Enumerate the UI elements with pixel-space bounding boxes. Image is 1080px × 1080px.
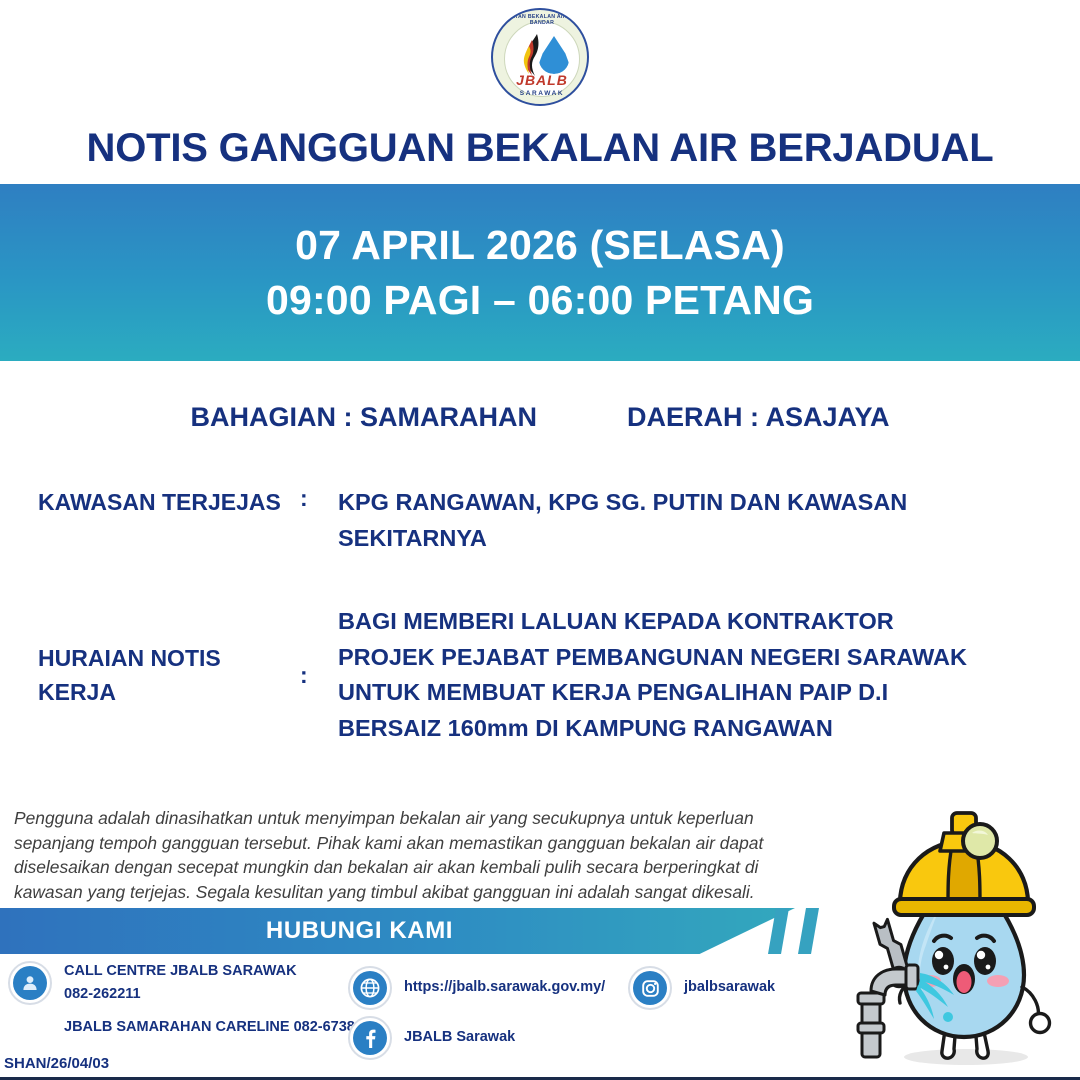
jbalb-logo: JABATAN BEKALAN AIR LUAR BANDAR JBALB SA…: [491, 8, 589, 106]
logo-state-text: SARAWAK: [493, 90, 589, 97]
schedule-date: 07 APRIL 2026 (SELASA): [295, 222, 785, 269]
water-droplet-mascot: [848, 795, 1080, 1077]
call-centre-contact: CALL CENTRE JBALB SARAWAK 082-262211: [8, 960, 297, 1006]
call-centre-name: CALL CENTRE JBALB SARAWAK: [64, 960, 297, 983]
facebook-contact[interactable]: JBALB Sarawak: [348, 1016, 515, 1060]
contact-bar: HUBUNGI KAMI: [0, 908, 795, 954]
reference-code: SHAN/26/04/03: [4, 1055, 109, 1072]
work-description-colon: :: [300, 662, 338, 689]
logo-flame-icon: [523, 34, 545, 76]
region-row: BAHAGIAN : SAMARAHAN DAERAH : ASAJAYA: [0, 402, 1080, 433]
facebook-icon: [348, 1016, 392, 1060]
work-description-value: BAGI MEMBERI LALUAN KEPADA KONTRAKTOR PR…: [338, 604, 978, 747]
website-contact[interactable]: https://jbalb.sarawak.gov.my/: [348, 966, 605, 1010]
affected-area-label: KAWASAN TERJEJAS: [0, 485, 300, 520]
careline-text: JBALB SAMARAHAN CARELINE 082-673809: [64, 1016, 371, 1039]
notice-poster: JABATAN BEKALAN AIR LUAR BANDAR JBALB SA…: [0, 0, 1080, 1080]
facebook-handle[interactable]: JBALB Sarawak: [404, 1026, 515, 1049]
instagram-icon: [628, 966, 672, 1010]
person-icon: [8, 961, 52, 1005]
affected-area-colon: :: [300, 485, 338, 512]
contact-bar-container: HUBUNGI KAMI: [0, 908, 860, 954]
careline-name: JBALB SAMARAHAN CARELINE: [64, 1019, 290, 1035]
affected-area-row: KAWASAN TERJEJAS : KPG RANGAWAN, KPG SG.…: [0, 485, 1080, 556]
instagram-handle[interactable]: jbalbsarawak: [684, 976, 775, 999]
division-label: BAHAGIAN : SAMARAHAN: [190, 402, 536, 433]
logo-container: JABATAN BEKALAN AIR LUAR BANDAR JBALB SA…: [0, 8, 1080, 106]
logo-ring-text: JABATAN BEKALAN AIR LUAR BANDAR: [493, 14, 589, 26]
globe-icon: [348, 966, 392, 1010]
instagram-contact[interactable]: jbalbsarawak: [628, 966, 775, 1010]
district-label: DAERAH : ASAJAYA: [627, 402, 890, 433]
website-url[interactable]: https://jbalb.sarawak.gov.my/: [404, 976, 605, 999]
advisory-paragraph: Pengguna adalah dinasihatkan untuk menyi…: [14, 806, 804, 905]
contacts-section: CALL CENTRE JBALB SARAWAK 082-262211 JBA…: [0, 958, 860, 1076]
work-description-row: HURAIAN NOTIS KERJA : BAGI MEMBERI LALUA…: [0, 604, 1080, 747]
contact-bar-title: HUBUNGI KAMI: [266, 917, 453, 945]
affected-area-value: KPG RANGAWAN, KPG SG. PUTIN DAN KAWASAN …: [338, 485, 958, 556]
call-centre-text: CALL CENTRE JBALB SARAWAK 082-262211: [64, 960, 297, 1006]
work-description-label: HURAIAN NOTIS KERJA: [0, 641, 300, 710]
call-centre-phone[interactable]: 082-262211: [64, 983, 297, 1006]
schedule-banner: 07 APRIL 2026 (SELASA) 09:00 PAGI – 06:0…: [0, 184, 1080, 361]
logo-acronym: JBALB: [493, 72, 589, 88]
page-title: NOTIS GANGGUAN BEKALAN AIR BERJADUAL: [0, 126, 1080, 171]
careline-contact: JBALB SAMARAHAN CARELINE 082-673809: [64, 1016, 371, 1039]
schedule-time: 09:00 PAGI – 06:00 PETANG: [266, 277, 814, 324]
decorative-slash-2: [798, 908, 819, 954]
